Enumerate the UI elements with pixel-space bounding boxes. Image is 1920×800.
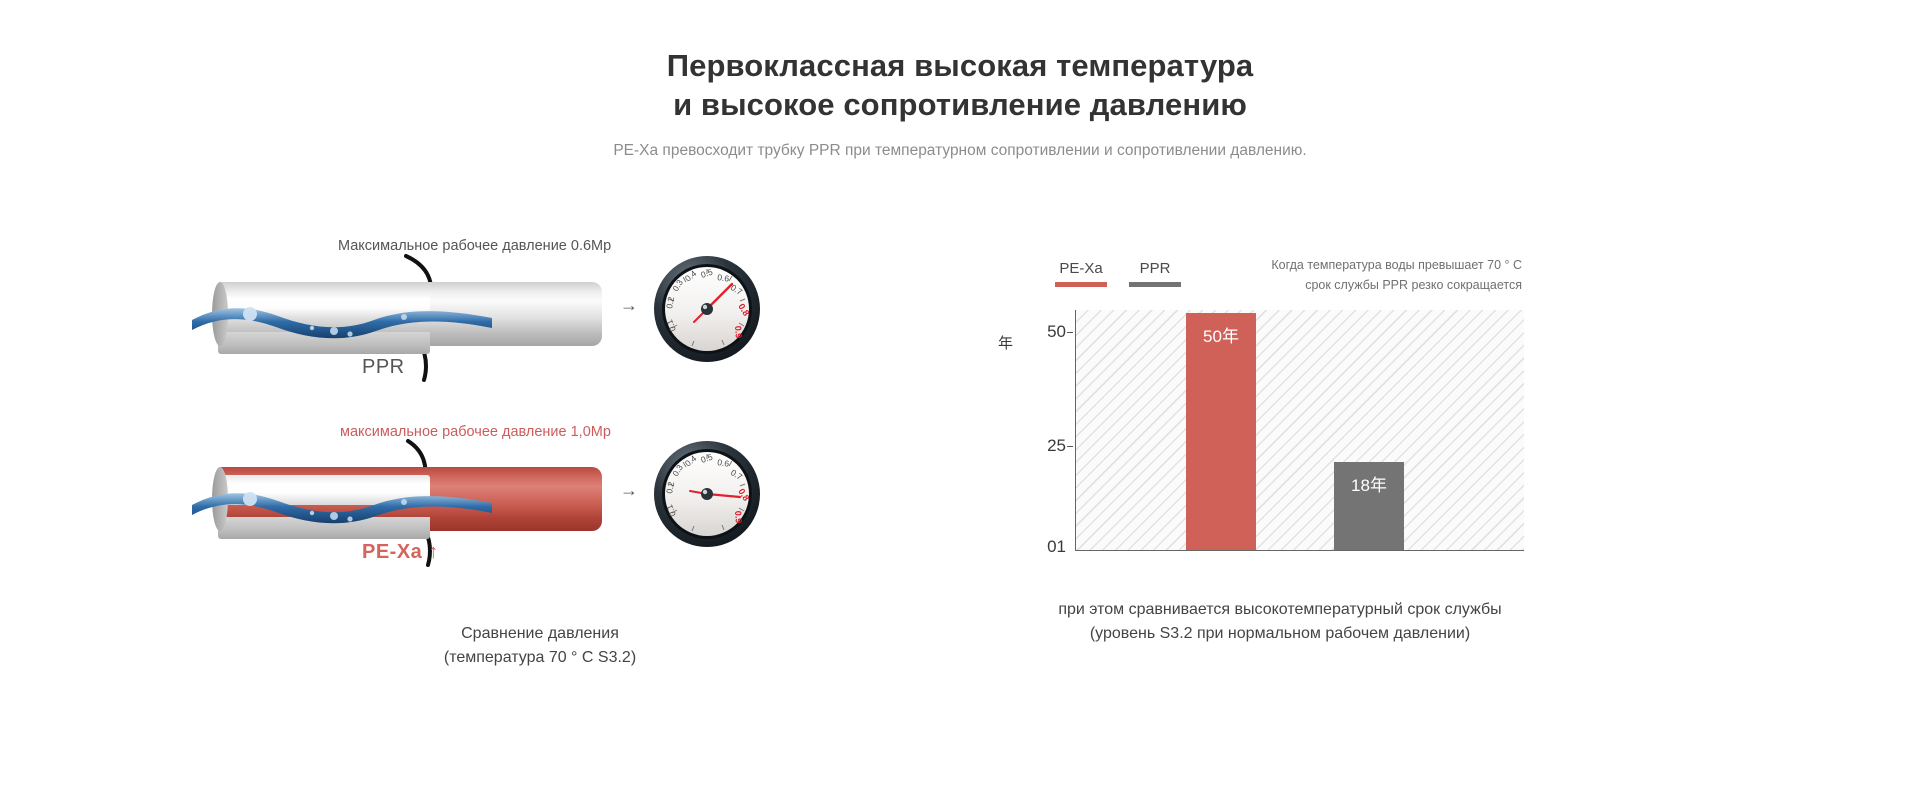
ppr-pressure-gauge: 0.3 0.4 0.5 0.6 0.7 0.2 0.1 0.8 0.9 <box>652 254 762 364</box>
infographic-root: Первоклассная высокая температура и высо… <box>0 0 1920 800</box>
legend-label-pexa: PE-Xa <box>1055 260 1107 278</box>
title-line-2: и высокое сопротивление давлению <box>0 85 1920 124</box>
chart-legend: PE-Xa PPR <box>1055 260 1181 287</box>
bar-ppr[interactable]: 18年 <box>1334 462 1404 550</box>
title-line-1: Первоклассная высокая температура <box>667 48 1254 83</box>
pexa-pipe-label: PE-Xa ↑ <box>362 541 439 564</box>
svg-text:0.2: 0.2 <box>664 296 676 310</box>
pressure-caption-line-2: (температура 70 ° C S3.2) <box>180 646 900 670</box>
bar-pexa-value: 50年 <box>1186 322 1256 347</box>
y-axis-tick-25: 25 <box>1022 436 1066 456</box>
chart-annotation: Когда температура воды превышает 70 ° C … <box>1192 255 1522 295</box>
y-axis-unit-label: 年 <box>998 332 1013 353</box>
svg-text:0.9: 0.9 <box>733 510 744 523</box>
svg-text:0.6: 0.6 <box>717 457 730 469</box>
pressure-panel-caption: Сравнение давления (температура 70 ° C S… <box>180 622 900 670</box>
legend-item-pexa: PE-Xa <box>1055 260 1107 287</box>
svg-text:0.2: 0.2 <box>664 481 676 495</box>
pressure-comparison-panel: Максимальное рабочее давление 0.6Mp <box>180 230 900 630</box>
ppr-pressure-callout: Максимальное рабочее давление 0.6Mp <box>338 238 611 254</box>
ppr-pipe-graphic <box>192 272 602 346</box>
y-axis-tick-25-dash <box>1067 446 1073 447</box>
y-axis-tick-01-label: 01 <box>1047 537 1066 556</box>
svg-text:0.9: 0.9 <box>733 325 744 338</box>
page-title: Первоклассная высокая температура и высо… <box>0 46 1920 124</box>
bar-ppr-value: 18年 <box>1334 471 1404 496</box>
ppr-connector-arrow-icon: → <box>620 296 638 314</box>
legend-label-ppr: PPR <box>1129 260 1181 278</box>
water-flow-icon <box>192 483 492 525</box>
chart-plot-wrapper: 年 50 25 01 50年 18年 <box>1000 310 1560 570</box>
pexa-pipe-graphic <box>192 457 602 531</box>
chart-annotation-line-2: срок службы PPR резко сокращается <box>1192 275 1522 295</box>
legend-item-ppr: PPR <box>1129 260 1181 287</box>
ppr-pipe-label: PPR <box>362 356 405 379</box>
chart-plot-area: 50年 18年 <box>1075 310 1524 551</box>
legend-swatch-ppr <box>1129 282 1181 287</box>
y-axis-tick-25-label: 25 <box>1047 436 1066 455</box>
chart-caption-line-2: (уровень S3.2 при нормальном рабочем дав… <box>880 622 1680 646</box>
y-axis-tick-50-dash <box>1067 332 1073 333</box>
svg-text:0.6: 0.6 <box>717 272 730 284</box>
bar-pexa[interactable]: 50年 <box>1186 313 1256 550</box>
page-subtitle: PE-Xa превосходит трубку PPR при темпера… <box>0 142 1920 160</box>
chart-panel-caption: при этом сравнивается высокотемпературны… <box>880 598 1680 646</box>
service-life-chart-panel: PE-Xa PPR Когда температура воды превыша… <box>1000 230 1700 630</box>
pexa-connector-arrow-icon: → <box>620 481 638 499</box>
header: Первоклассная высокая температура и высо… <box>0 46 1920 160</box>
legend-swatch-pexa <box>1055 282 1107 287</box>
water-flow-icon <box>192 298 492 340</box>
y-axis-tick-50: 50 <box>1022 322 1066 342</box>
y-axis-tick-50-label: 50 <box>1047 322 1066 341</box>
y-axis-tick-01: 01 <box>1022 537 1066 557</box>
pexa-pressure-gauge: 0.3 0.4 0.5 0.6 0.7 0.2 0.1 0.8 0.9 <box>652 439 762 549</box>
chart-caption-line-1: при этом сравнивается высокотемпературны… <box>880 598 1680 622</box>
chart-annotation-line-1: Когда температура воды превышает 70 ° C <box>1192 255 1522 275</box>
pressure-caption-line-1: Сравнение давления <box>180 622 900 646</box>
pexa-pressure-callout: максимальное рабочее давление 1,0Mp <box>340 424 611 440</box>
